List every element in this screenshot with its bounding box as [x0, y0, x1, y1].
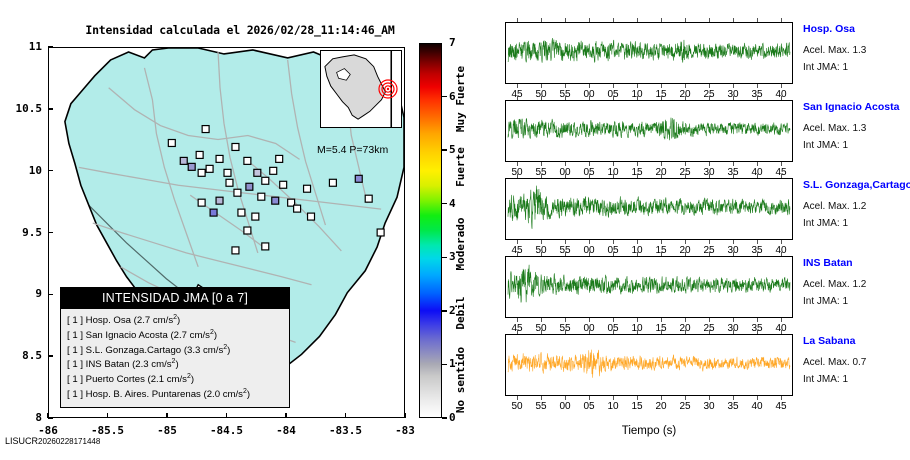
seismogram-tick — [733, 18, 734, 22]
legend-entry: [ 1 ] Hosp. B. Aires. Puntarenas (2.0 cm… — [67, 387, 283, 402]
legend-entry-accel: (3.3 cm/s — [184, 345, 223, 356]
seismogram-waveform — [506, 101, 792, 161]
seismogram-tick — [637, 330, 638, 334]
legend-entry-close-paren: ) — [214, 330, 217, 341]
map-x-tick — [107, 413, 109, 418]
map-y-tick-label: 11 — [2, 40, 42, 53]
seismogram-tick — [757, 18, 758, 22]
colorbar-gradient — [419, 43, 442, 418]
seismogram-tick-label: 35 — [720, 401, 746, 412]
legend-entry: [ 1 ] S.L. Gonzaga.Cartago (3.3 cm/s2) — [67, 343, 283, 358]
seismogram-tick — [733, 96, 734, 100]
seismogram-tick — [589, 252, 590, 256]
seismogram-tick — [589, 240, 590, 244]
seismogram-trace[interactable] — [505, 100, 793, 162]
legend-entry-accel: (2.1 cm/s — [148, 374, 187, 385]
seismogram-tick — [661, 18, 662, 22]
seismogram-tick — [733, 174, 734, 178]
seismogram-tick-label: 10 — [600, 401, 626, 412]
seismogram-tick — [733, 396, 734, 400]
seismogram-tick — [541, 318, 542, 322]
legend-entry-station: Hosp. B. Aires. Puntarenas — [86, 389, 204, 400]
station-name-label[interactable]: San Ignacio Acosta — [803, 101, 899, 113]
seismogram-tick — [685, 396, 686, 400]
seismogram-tick — [613, 174, 614, 178]
seismogram-waveform — [506, 179, 792, 239]
seismogram-tick — [613, 96, 614, 100]
seismogram-tick — [709, 162, 710, 166]
colorbar-category-label: Debil — [454, 296, 467, 329]
colorbar-tick — [442, 364, 447, 365]
seismogram-tick — [709, 174, 710, 178]
station-name-label[interactable]: INS Batan — [803, 257, 853, 269]
colorbar-category-label: No sentido — [454, 347, 467, 413]
seismogram-tick — [613, 18, 614, 22]
seismogram-tick-label: 55 — [528, 401, 554, 412]
seismogram-tick — [781, 18, 782, 22]
inset-location-map[interactable] — [320, 50, 402, 128]
seismogram-tick — [733, 330, 734, 334]
seismogram-tick — [661, 240, 662, 244]
seismogram-waveform — [506, 335, 792, 395]
seismogram-tick-label: 40 — [744, 401, 770, 412]
station-jma-intensity: Int JMA: 1 — [803, 218, 848, 229]
legend-entry-station: S.L. Gonzaga.Cartago — [86, 345, 184, 356]
seismogram-tick — [781, 162, 782, 166]
map-x-tick — [285, 413, 287, 418]
seismogram-tick — [541, 240, 542, 244]
footer-agency: LISUCR — [5, 436, 38, 446]
map-x-tick-label: -84.5 — [197, 424, 257, 437]
legend-entry: [ 1 ] Hosp. Osa (2.7 cm/s2) — [67, 313, 283, 328]
map-x-tick-label: -85 — [137, 424, 197, 437]
map-y-tick — [48, 294, 53, 296]
seismogram-tick — [589, 96, 590, 100]
seismogram-tick — [661, 96, 662, 100]
seismogram-tick — [661, 252, 662, 256]
station-jma-intensity: Int JMA: 1 — [803, 296, 848, 307]
seismogram-tick — [565, 174, 566, 178]
seismogram-tick — [613, 330, 614, 334]
colorbar-value-label: 4 — [449, 197, 463, 210]
legend-entry-level: [ 1 ] — [67, 345, 86, 356]
seismogram-tick — [565, 84, 566, 88]
seismogram-trace[interactable] — [505, 256, 793, 318]
colorbar-category-label: Fuerte — [454, 147, 467, 187]
colorbar-value-label: 7 — [449, 36, 463, 49]
seismogram-tick — [637, 18, 638, 22]
seismogram-tick — [517, 18, 518, 22]
map-x-tick — [226, 413, 228, 418]
seismogram-tick — [709, 96, 710, 100]
legend-entry-accel: (2.7 cm/s — [134, 315, 173, 326]
station-name-label[interactable]: Hosp. Osa — [803, 23, 855, 35]
seismogram-tick — [709, 252, 710, 256]
map-y-tick — [48, 108, 53, 110]
seismogram-tick — [541, 18, 542, 22]
seismogram-tick — [757, 84, 758, 88]
legend-entry-station: Hosp. Osa — [86, 315, 134, 326]
seismogram-tick — [733, 240, 734, 244]
colorbar-tick — [442, 257, 447, 258]
seismogram-tick — [637, 96, 638, 100]
seismogram-tick — [637, 318, 638, 322]
seismogram-tick — [517, 240, 518, 244]
seismogram-tick — [589, 174, 590, 178]
station-jma-intensity: Int JMA: 1 — [803, 62, 848, 73]
map-x-tick-label: -85.5 — [78, 424, 138, 437]
time-axis-label: Tiempo (s) — [505, 425, 793, 437]
seismogram-tick — [541, 396, 542, 400]
seismogram-tick — [589, 84, 590, 88]
map-y-tick-label: 8.5 — [2, 349, 42, 362]
seismogram-tick — [685, 84, 686, 88]
seismogram-tick-label: 45 — [768, 401, 794, 412]
map-x-tick-label: -84 — [256, 424, 316, 437]
seismogram-tick — [661, 174, 662, 178]
seismogram-tick — [517, 396, 518, 400]
seismogram-tick — [685, 252, 686, 256]
map-y-tick-label: 9 — [2, 287, 42, 300]
magnitude-label: M=5.4 P=73km — [317, 144, 388, 156]
seismogram-tick — [613, 396, 614, 400]
station-max-acceleration: Acel. Max. 1.3 — [803, 45, 866, 56]
seismogram-tick — [589, 330, 590, 334]
seismogram-tick — [541, 96, 542, 100]
page-title: Intensidad calculada el 2026/02/28_11:14… — [70, 23, 410, 37]
seismogram-tick — [541, 84, 542, 88]
seismogram-tick — [781, 396, 782, 400]
seismogram-tick — [517, 252, 518, 256]
legend-entry-accel: (2.3 cm/s — [132, 360, 171, 371]
seismogram-tick-label: 25 — [672, 401, 698, 412]
seismogram-tick — [613, 162, 614, 166]
seismogram-tick — [565, 162, 566, 166]
seismogram-tick — [757, 252, 758, 256]
seismogram-tick — [709, 396, 710, 400]
seismogram-tick — [757, 330, 758, 334]
seismogram-tick — [541, 162, 542, 166]
seismogram-tick — [757, 162, 758, 166]
seismogram-tick — [517, 318, 518, 322]
seismogram-tick — [733, 252, 734, 256]
legend-entry-station: San Ignacio Acosta — [86, 330, 171, 341]
station-max-acceleration: Acel. Max. 1.2 — [803, 279, 866, 290]
station-jma-intensity: Int JMA: 1 — [803, 140, 848, 151]
map-x-tick — [166, 413, 168, 418]
seismogram-tick — [637, 162, 638, 166]
seismogram-tick — [733, 318, 734, 322]
seismogram-tick — [637, 252, 638, 256]
seismogram-tick — [565, 240, 566, 244]
seismogram-tick — [613, 240, 614, 244]
legend-entry: [ 1 ] INS Batan (2.3 cm/s2) — [67, 357, 283, 372]
seismogram-tick — [757, 396, 758, 400]
seismogram-tick — [661, 84, 662, 88]
legend-entry-level: [ 1 ] — [67, 315, 86, 326]
seismogram-tick — [637, 396, 638, 400]
map-y-tick-label: 8 — [2, 411, 42, 424]
seismogram-tick — [517, 330, 518, 334]
legend-entry-accel: (2.7 cm/s — [170, 330, 209, 341]
seismogram-tick — [781, 96, 782, 100]
seismogram-tick — [709, 18, 710, 22]
station-jma-intensity: Int JMA: 1 — [803, 374, 848, 385]
seismogram-tick — [517, 96, 518, 100]
seismogram-tick — [685, 96, 686, 100]
seismogram-tick — [517, 84, 518, 88]
seismogram-tick — [637, 174, 638, 178]
seismogram-tick — [757, 318, 758, 322]
seismogram-tick — [661, 318, 662, 322]
map-x-tick — [404, 413, 406, 418]
seismogram-tick-label: 15 — [624, 401, 650, 412]
seismogram-tick — [565, 396, 566, 400]
seismogram-tick — [733, 84, 734, 88]
seismogram-tick — [589, 396, 590, 400]
seismogram-tick — [709, 84, 710, 88]
seismogram-tick — [613, 84, 614, 88]
seismogram-tick — [565, 96, 566, 100]
legend-entry-accel: (2.0 cm/s — [204, 389, 243, 400]
station-max-acceleration: Acel. Max. 1.2 — [803, 201, 866, 212]
colorbar-category-label: Muy Fuerte — [454, 66, 467, 132]
seismogram-tick-label: 30 — [696, 401, 722, 412]
seismogram-tick — [781, 84, 782, 88]
map-x-tick — [345, 413, 347, 418]
legend-entry-close-paren: ) — [247, 389, 250, 400]
seismogram-tick-label: 20 — [648, 401, 674, 412]
legend-entry-close-paren: ) — [227, 345, 230, 356]
legend-entry-level: [ 1 ] — [67, 389, 86, 400]
footer: LISUCR20260228171448 — [5, 436, 100, 446]
seismogram-tick — [781, 174, 782, 178]
seismogram-trace[interactable] — [505, 334, 793, 396]
seismogram-tick — [781, 252, 782, 256]
seismogram-tick — [757, 96, 758, 100]
station-max-acceleration: Acel. Max. 1.3 — [803, 123, 866, 134]
seismogram-tick — [757, 174, 758, 178]
seismogram-tick — [685, 162, 686, 166]
map-x-tick — [47, 413, 49, 418]
colorbar-category-label: Moderado — [454, 217, 467, 270]
seismogram-trace[interactable] — [505, 22, 793, 84]
seismogram-tick — [565, 18, 566, 22]
legend-entry-station: Puerto Cortes — [86, 374, 148, 385]
seismogram-tick — [613, 318, 614, 322]
seismogram-tick — [781, 240, 782, 244]
seismogram-tick — [661, 162, 662, 166]
legend-entry-level: [ 1 ] — [67, 374, 86, 385]
legend-entry-close-paren: ) — [191, 374, 194, 385]
station-max-acceleration: Acel. Max. 0.7 — [803, 357, 866, 368]
map-y-tick-label: 9.5 — [2, 226, 42, 239]
seismogram-tick — [661, 330, 662, 334]
map-x-tick-label: -86 — [18, 424, 78, 437]
seismogram-tick — [589, 162, 590, 166]
legend-entry-close-paren: ) — [177, 315, 180, 326]
seismogram-tick — [685, 240, 686, 244]
seismogram-tick — [517, 174, 518, 178]
seismogram-tick — [685, 174, 686, 178]
colorbar-tick — [442, 417, 447, 418]
seismogram-tick — [613, 252, 614, 256]
map-y-tick-label: 10.5 — [2, 102, 42, 115]
colorbar-tick — [442, 310, 447, 311]
legend-entry-level: [ 1 ] — [67, 330, 86, 341]
legend-entry-close-paren: ) — [175, 360, 178, 371]
seismogram-tick-label: 50 — [504, 401, 530, 412]
seismogram-tick — [709, 318, 710, 322]
legend-entries: [ 1 ] Hosp. Osa (2.7 cm/s2)[ 1 ] San Ign… — [61, 309, 289, 407]
seismogram-tick — [565, 252, 566, 256]
seismogram-tick — [637, 240, 638, 244]
legend-title: INTENSIDAD JMA [0 a 7] — [61, 288, 289, 309]
seismogram-tick — [685, 18, 686, 22]
seismogram-tick — [541, 330, 542, 334]
seismogram-tick — [661, 396, 662, 400]
colorbar-tick — [442, 96, 447, 97]
intensity-colorbar: 76543210Muy FuerteFuerteModeradoDebilNo … — [419, 43, 489, 418]
seismogram-tick — [565, 330, 566, 334]
station-name-label[interactable]: S.L. Gonzaga,Cartago — [803, 179, 910, 191]
seismogram-tick — [565, 318, 566, 322]
seismogram-trace[interactable] — [505, 178, 793, 240]
colorbar-tick — [442, 149, 447, 150]
map-x-tick-label: -83 — [375, 424, 435, 437]
map-y-tick — [48, 170, 53, 172]
legend-entry-station: INS Batan — [86, 360, 132, 371]
legend-entry-level: [ 1 ] — [67, 360, 86, 371]
station-name-label[interactable]: La Sabana — [803, 335, 856, 347]
epicenter-marker-icon — [378, 79, 398, 99]
seismogram-tick — [757, 240, 758, 244]
map-y-tick-label: 10 — [2, 164, 42, 177]
map-y-tick — [48, 232, 53, 234]
seismogram-tick-label: 05 — [576, 401, 602, 412]
seismogram-tick-label: 00 — [552, 401, 578, 412]
seismogram-tick — [781, 330, 782, 334]
map-y-tick — [48, 355, 53, 357]
intensity-legend: INTENSIDAD JMA [0 a 7] [ 1 ] Hosp. Osa (… — [60, 287, 290, 408]
seismogram-waveform — [506, 23, 792, 83]
seismogram-tick — [733, 162, 734, 166]
seismogram-tick — [709, 330, 710, 334]
legend-entry: [ 1 ] Puerto Cortes (2.1 cm/s2) — [67, 372, 283, 387]
map-y-tick — [48, 46, 53, 48]
seismogram-tick — [709, 240, 710, 244]
seismogram-tick — [685, 318, 686, 322]
map-x-tick-label: -83.5 — [316, 424, 376, 437]
seismogram-tick — [637, 84, 638, 88]
seismogram-tick — [541, 252, 542, 256]
seismogram-tick — [541, 174, 542, 178]
seismogram-tick — [589, 18, 590, 22]
seismogram-tick — [685, 330, 686, 334]
legend-entry: [ 1 ] San Ignacio Acosta (2.7 cm/s2) — [67, 328, 283, 343]
footer-code: 20260228171448 — [38, 437, 100, 446]
seismic-intensity-report: Intensidad calculada el 2026/02/28_11:14… — [0, 0, 910, 460]
seismogram-tick — [517, 162, 518, 166]
seismogram-waveform — [506, 257, 792, 317]
colorbar-tick — [442, 203, 447, 204]
seismogram-tick — [781, 318, 782, 322]
seismogram-tick — [589, 318, 590, 322]
